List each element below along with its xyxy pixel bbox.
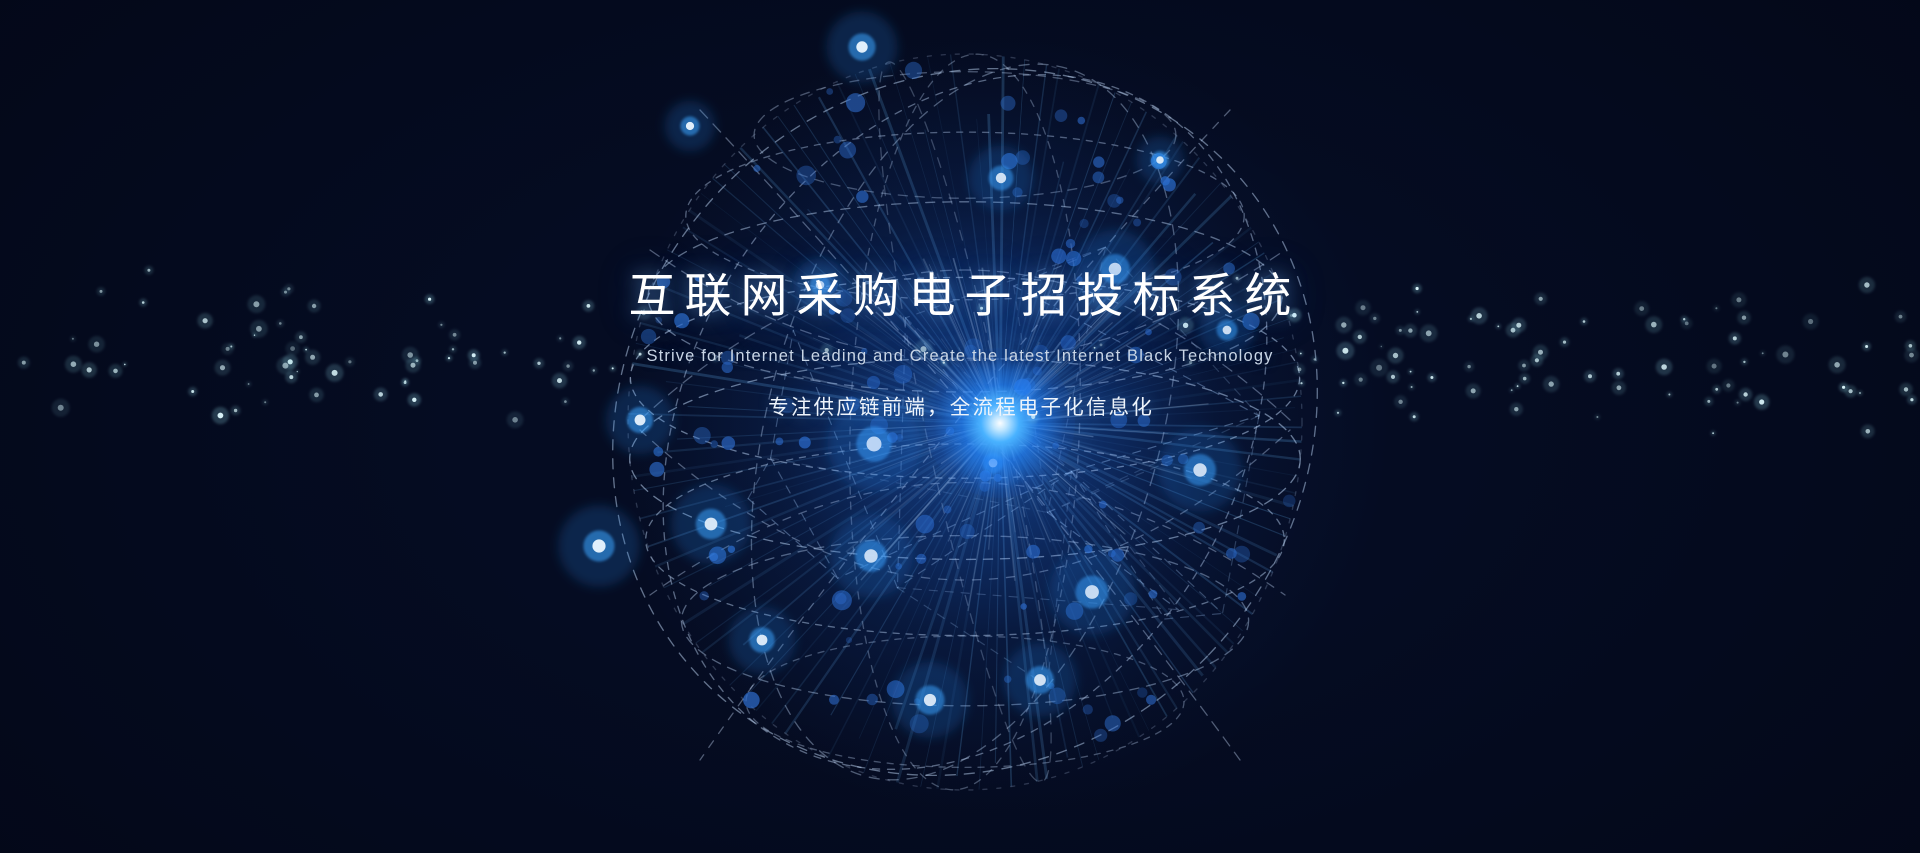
star-particles	[0, 0, 1920, 853]
page-title: 互联网采购电子招投标系统	[620, 272, 1301, 320]
hero-text-block: 互联网采购电子招投标系统 Strive for Internet Leading…	[0, 0, 1920, 853]
hero-banner: 互联网采购电子招投标系统 Strive for Internet Leading…	[0, 0, 1920, 853]
center-glow	[550, 0, 1450, 853]
wireframe-globe	[0, 0, 1920, 853]
hero-tagline: 专注供应链前端，全流程电子化信息化	[766, 390, 1154, 420]
hero-subtitle: Strive for Internet Leading and Create t…	[646, 347, 1273, 366]
vignette-overlay	[0, 0, 1920, 853]
light-burst-icon	[925, 348, 1075, 498]
